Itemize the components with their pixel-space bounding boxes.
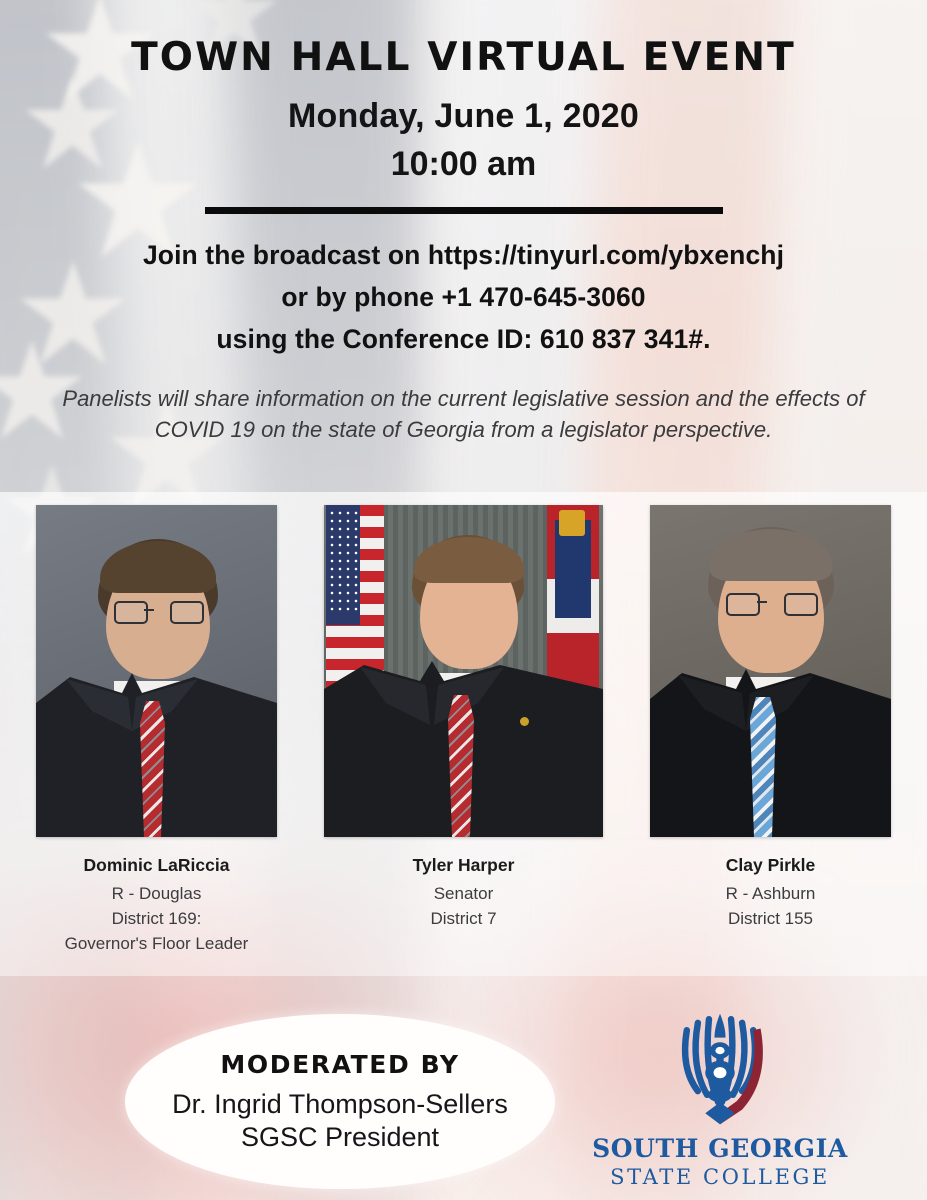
- header-divider: [205, 207, 723, 214]
- panelist-detail: District 155: [728, 906, 813, 931]
- moderator-callout: MODERATED BY Dr. Ingrid Thompson-Sellers…: [125, 1014, 555, 1189]
- logo-line-1: SOUTH GEORGIA: [592, 1134, 848, 1163]
- moderator-name: Dr. Ingrid Thompson-Sellers: [172, 1088, 508, 1121]
- panelist-name: Clay Pirkle: [726, 855, 816, 877]
- panelist-list: Dominic LaRiccia R - Douglas District 16…: [0, 505, 927, 956]
- panelist-card: Clay Pirkle R - Ashburn District 155: [650, 505, 891, 931]
- panelist-photo: [650, 505, 891, 837]
- header: TOWN HALL VIRTUAL EVENT Monday, June 1, …: [0, 0, 927, 445]
- join-line-phone: or by phone +1 470-645-3060: [0, 277, 927, 319]
- logo-line-2: STATE COLLEGE: [610, 1165, 830, 1189]
- join-instructions: Join the broadcast on https://tinyurl.co…: [0, 235, 927, 361]
- sgsc-logo: SOUTH GEORGIA STATE COLLEGE: [575, 1010, 865, 1189]
- panelist-detail: Senator: [434, 881, 494, 906]
- panelist-card: Dominic LaRiccia R - Douglas District 16…: [36, 505, 277, 956]
- panelist-card: Tyler Harper Senator District 7: [324, 505, 603, 931]
- page-title: TOWN HALL VIRTUAL EVENT: [0, 38, 927, 77]
- join-line-url: Join the broadcast on https://tinyurl.co…: [0, 235, 927, 277]
- event-description: Panelists will share information on the …: [0, 383, 927, 445]
- event-date: Monday, June 1, 2020: [0, 99, 927, 135]
- moderated-by-label: MODERATED BY: [220, 1050, 459, 1079]
- shield-crest-icon: [664, 1010, 776, 1128]
- panelist-name: Dominic LaRiccia: [84, 855, 230, 877]
- event-time: 10:00 am: [0, 147, 927, 183]
- panelist-detail: R - Douglas: [112, 881, 202, 906]
- moderator-role: SGSC President: [241, 1121, 439, 1154]
- panelist-photo: [36, 505, 277, 837]
- panelist-detail: R - Ashburn: [726, 881, 816, 906]
- panelist-detail: District 169:: [112, 906, 202, 931]
- panelist-photo: [324, 505, 603, 837]
- panelist-detail: Governor's Floor Leader: [65, 931, 249, 956]
- event-flyer: TOWN HALL VIRTUAL EVENT Monday, June 1, …: [0, 0, 927, 1200]
- panelist-name: Tyler Harper: [413, 855, 515, 877]
- panelist-detail: District 7: [430, 906, 496, 931]
- join-line-conference-id: using the Conference ID: 610 837 341#.: [0, 319, 927, 361]
